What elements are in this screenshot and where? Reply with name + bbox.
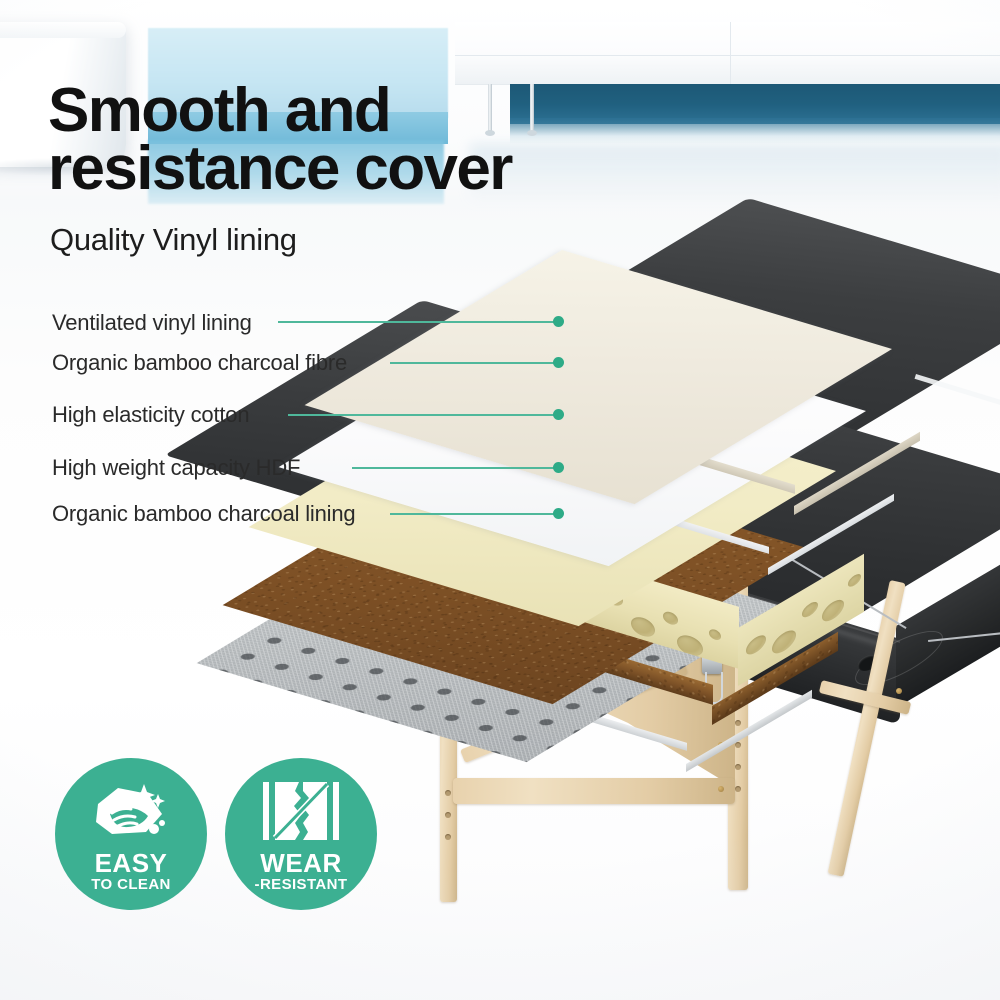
badge-1-main: EASY — [55, 848, 207, 879]
product-marketing-image: Smooth and resistance cover Quality Viny… — [0, 0, 1000, 1000]
hand-wiping-cloth-icon — [88, 780, 174, 842]
torn-fabric-slash-icon — [261, 778, 341, 844]
page-subheadline: Quality Vinyl lining — [50, 222, 297, 258]
page-headline: Smooth and resistance cover — [48, 82, 668, 197]
headline-line-2: resistance cover — [48, 140, 668, 198]
badge-2-sub: -RESISTANT — [225, 876, 377, 893]
badge-1-sub: TO CLEAN — [55, 876, 207, 893]
badge-2-main: WEAR — [225, 848, 377, 879]
badge-wear-resistant: WEAR -RESISTANT — [225, 758, 377, 910]
badge-easy-to-clean: EASY TO CLEAN — [55, 758, 207, 910]
